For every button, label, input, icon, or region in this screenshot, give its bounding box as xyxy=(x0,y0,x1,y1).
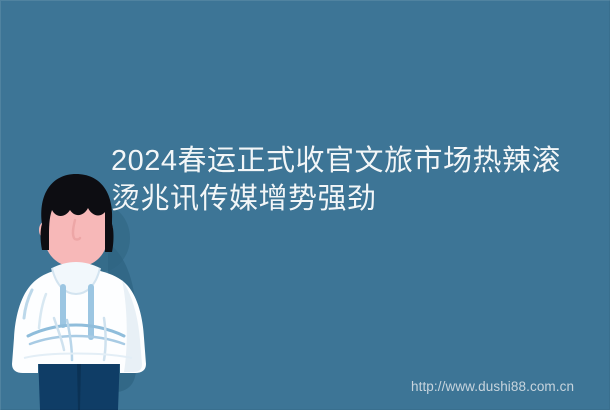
sideburn-right xyxy=(105,224,114,252)
site-watermark-url: http://www.dushi88.com.cn xyxy=(411,378,574,396)
drawstring-left xyxy=(60,284,66,328)
page-title: 2024春运正式收官文旅市场热辣滚烫兆讯传媒增势强劲 xyxy=(111,142,581,218)
sideburn-left xyxy=(41,224,50,250)
drawstring-right xyxy=(88,284,94,340)
article-cover-banner: 2024春运正式收官文旅市场热辣滚烫兆讯传媒增势强劲 http://www.du… xyxy=(0,0,610,410)
